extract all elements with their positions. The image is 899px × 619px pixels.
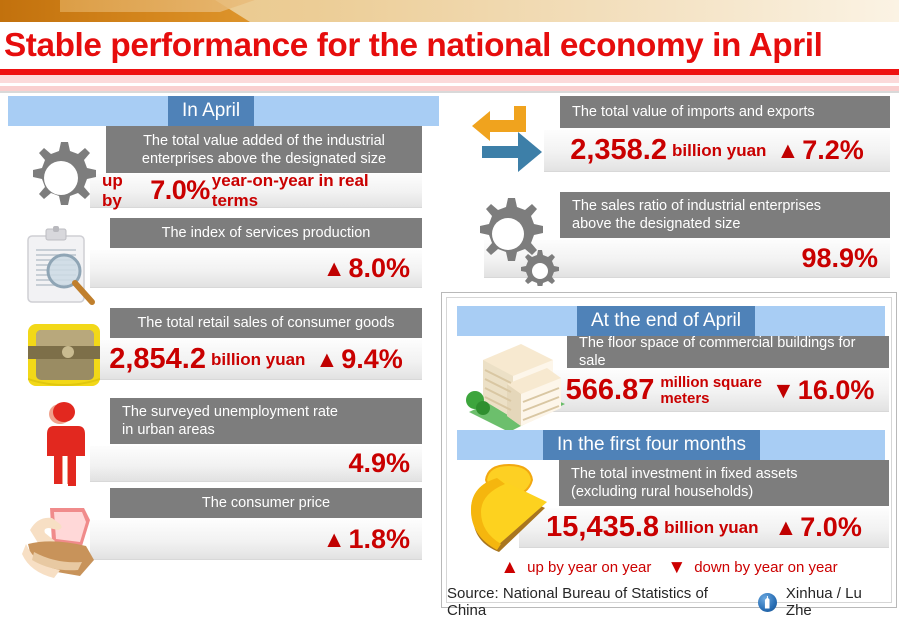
person-icon (32, 402, 94, 488)
arrow-up-icon: ▲ (776, 139, 799, 162)
legend-up-label: up by year on year (527, 559, 651, 576)
value-change: 7.2% (802, 135, 864, 166)
value-change: 16.0% (798, 375, 875, 406)
arrow-up-icon: ▲ (323, 257, 346, 280)
stat-row-fixed-assets: The total investment in fixed assets (ex… (447, 460, 891, 552)
headline-rule-pink (0, 75, 899, 83)
value-number: 2,854.2 (109, 343, 206, 376)
value-suffix: year-on-year in real terms (212, 171, 410, 211)
gears-icon (464, 196, 564, 286)
arrow-up-icon: ▲ (323, 528, 346, 551)
xinhua-logo-icon (758, 593, 777, 612)
value-number: 2,358.2 (570, 134, 667, 167)
value-unit: billion yuan (672, 141, 766, 161)
label-services-production: The index of services production (110, 218, 422, 248)
stat-row-sales-ratio: The sales ratio of industrial enterprise… (444, 192, 897, 286)
arrow-up-icon: ▲ (315, 348, 338, 371)
value-unit: billion yuan (211, 350, 305, 370)
stat-row-floor-space: The floor space of commercial buildings … (447, 336, 891, 428)
value-number: 1.8% (348, 524, 410, 555)
panel-in-april: In April The total value added of the in… (2, 96, 439, 608)
value-number: 4.9% (348, 448, 410, 479)
banner-first-four-months: In the first four months (457, 430, 885, 460)
legend-down-icon: ▼ (667, 558, 686, 577)
label-consumer-price: The consumer price (110, 488, 422, 518)
hands-money-icon (20, 500, 112, 580)
value-number: 98.9% (801, 243, 878, 274)
label-fixed-assets: The total investment in fixed assets (ex… (559, 460, 889, 506)
decorative-top-bar (0, 0, 899, 22)
headline-rule-gray (0, 91, 899, 93)
banner-in-april: In April (8, 96, 439, 126)
banner-chip-first-four-months: In the first four months (543, 430, 760, 460)
stat-row-industrial-value-added: The total value added of the industrial … (2, 126, 439, 218)
label-floor-space: The floor space of commercial buildings … (567, 336, 889, 368)
stat-row-services-production: The index of services production ▲ 8.0% (2, 218, 439, 308)
value-floor-space: 566.87 million square meters ▼ 16.0% (551, 370, 889, 412)
banner-chip-end-of-april: At the end of April (577, 306, 755, 336)
label-imports-exports: The total value of imports and exports (560, 96, 890, 128)
panel-periods-inner: At the end of April The floor space of c… (446, 297, 892, 603)
source-label: Source: National Bureau of Statistics of… (447, 585, 749, 619)
banner-end-of-april: At the end of April (457, 306, 885, 336)
legend-down-label: down by year on year (694, 559, 837, 576)
value-change: 7.0% (800, 512, 862, 543)
value-prefix: up by (102, 171, 145, 211)
value-number: 8.0% (348, 253, 410, 284)
label-retail-sales: The total retail sales of consumer goods (110, 308, 422, 338)
panel-periods: At the end of April The floor space of c… (441, 292, 897, 608)
value-consumer-price: ▲ 1.8% (90, 520, 422, 560)
value-change: 9.4% (341, 344, 403, 375)
page-title: Stable performance for the national econ… (8, 22, 893, 68)
gear-icon (18, 138, 104, 218)
label-sales-ratio: The sales ratio of industrial enterprise… (560, 192, 890, 238)
stat-row-imports-exports: The total value of imports and exports 2… (444, 96, 897, 192)
banner-chip-in-april: In April (168, 96, 254, 126)
value-number: 566.87 (566, 374, 655, 407)
document-magnifier-icon (20, 226, 100, 308)
value-services-production: ▲ 8.0% (90, 250, 422, 288)
arrow-up-icon: ▲ (775, 516, 798, 539)
value-imports-exports: 2,358.2 billion yuan ▲ 7.2% (544, 130, 890, 172)
exchange-arrows-icon (470, 102, 562, 192)
value-unemployment: 4.9% (90, 446, 422, 482)
pie-chart-icon (457, 460, 577, 560)
stat-row-consumer-price: The consumer price ▲ 1.8% (2, 488, 439, 580)
value-unit: billion yuan (664, 518, 758, 538)
value-unit: million square meters (660, 375, 762, 407)
value-retail-sales: 2,854.2 billion yuan ▲ 9.4% (90, 340, 422, 380)
value-industrial-value-added: up by 7.0% year-on-year in real terms (90, 174, 422, 208)
legend-up-icon: ▲ (500, 558, 519, 577)
credit-label: Xinhua / Lu Zhe (786, 585, 891, 619)
arrow-down-icon: ▼ (772, 379, 795, 402)
panel-trade: The total value of imports and exports 2… (444, 96, 897, 288)
label-industrial-value-added: The total value added of the industrial … (106, 126, 422, 173)
headline-text: Stable performance for the national econ… (4, 28, 823, 62)
label-unemployment: The surveyed unemployment rate in urban … (110, 398, 422, 444)
stat-row-retail-sales: The total retail sales of consumer goods… (2, 308, 439, 398)
stat-row-unemployment: The surveyed unemployment rate in urban … (2, 398, 439, 488)
value-number: 7.0% (150, 175, 210, 206)
building-icon (461, 338, 571, 436)
wallet-icon (16, 314, 108, 396)
